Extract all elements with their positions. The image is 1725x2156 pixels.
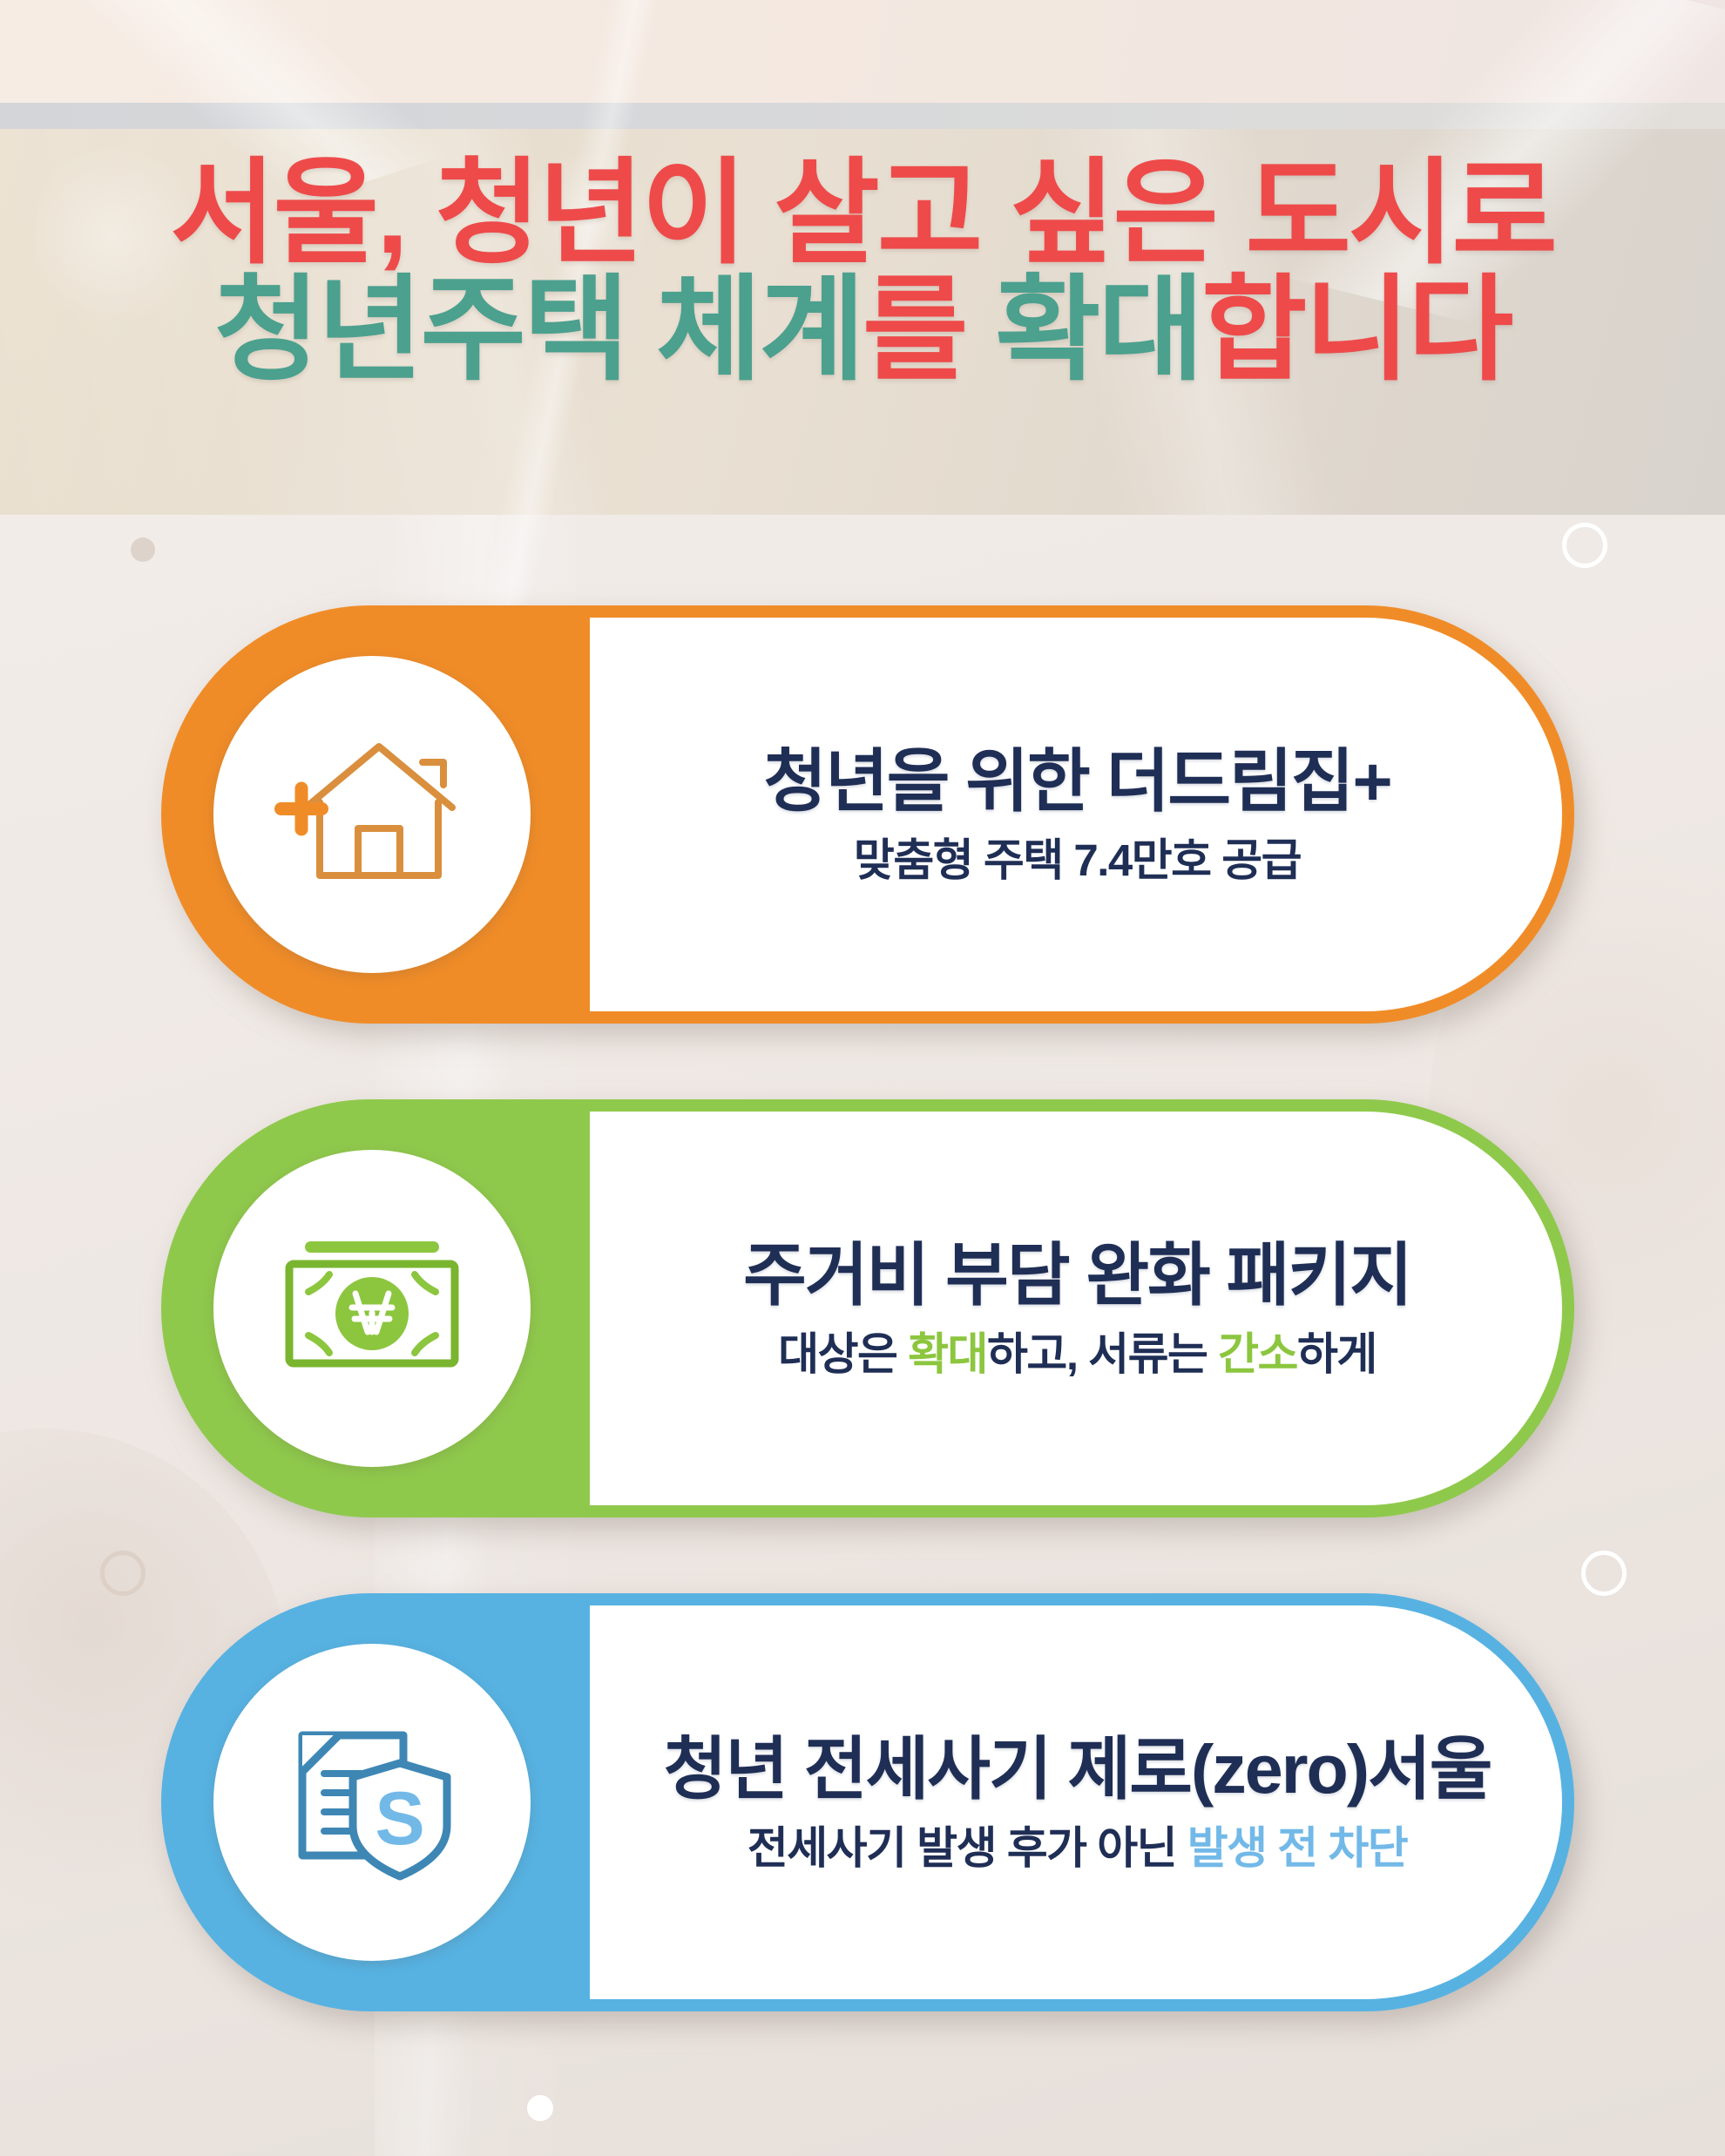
title-line-2: 청년주택 체계를 확대합니다	[0, 272, 1725, 389]
card-text-block: 주거비 부담 완화 패키지 대상은 확대하고, 서류는 간소하게	[590, 1109, 1565, 1508]
card-subtitle-segment-1: 전세사기 발생 후가 아닌	[747, 1823, 1187, 1873]
background-grey-band	[0, 103, 1725, 129]
card-text-block: 청년을 위한 더드림집+ 맞춤형 주택 7.4만호 공급	[590, 615, 1565, 1014]
deco-ring-top-right	[1562, 523, 1607, 568]
card-title: 청년을 위한 더드림집+	[763, 743, 1390, 820]
card-subtitle: 맞춤형 주택 7.4만호 공급	[854, 835, 1301, 886]
card-youth-housing[interactable]: 청년을 위한 더드림집+ 맞춤형 주택 7.4만호 공급	[161, 605, 1574, 1024]
card-title: 청년 전세사기 제로(zero)서울	[664, 1731, 1492, 1808]
card-subtitle-segment-2: 발생 전 차단	[1187, 1823, 1407, 1873]
card-icon-badge	[213, 656, 531, 973]
card-text-block: 청년 전세사기 제로(zero)서울 전세사기 발생 후가 아닌 발생 전 차단	[590, 1603, 1565, 2002]
card-icon-badge	[213, 1150, 531, 1467]
card-subtitle-segment-3: 하고, 서류는	[987, 1329, 1218, 1379]
shield-letter: S	[375, 1777, 424, 1861]
card-subtitle-segment-5: 하게	[1297, 1329, 1377, 1379]
deco-ring-lower-left	[100, 1551, 145, 1596]
card-icon-badge: S	[213, 1644, 531, 1961]
background-top-strip	[0, 0, 1725, 103]
card-subtitle-segment-1: 대상은	[778, 1329, 908, 1379]
card-housing-cost-relief[interactable]: 주거비 부담 완화 패키지 대상은 확대하고, 서류는 간소하게	[161, 1099, 1574, 1517]
title-line-2-segment-4: 합니다	[1201, 266, 1511, 394]
title-line-2-segment-3: 확대	[965, 266, 1201, 394]
title-line-1: 서울, 청년이 살고 싶은 도시로	[0, 155, 1725, 272]
deco-dot-top-left	[131, 537, 155, 562]
card-subtitle-segment-2: 확대	[908, 1329, 987, 1379]
card-subtitle: 대상은 확대하고, 서류는 간소하게	[778, 1329, 1377, 1380]
deco-dot-bottom	[527, 2095, 553, 2121]
deco-ring-lower-right	[1581, 1551, 1627, 1596]
page-title: 서울, 청년이 살고 싶은 도시로 청년주택 체계를 확대합니다	[0, 155, 1725, 389]
card-jeonse-fraud-zero[interactable]: S 청년 전세사기 제로(zero)서울 전세사기 발생 후가 아닌 발생 전 …	[161, 1593, 1574, 2011]
title-line-2-segment-2: 를	[862, 266, 965, 394]
poster-root: 서울, 청년이 살고 싶은 도시로 청년주택 체계를 확대합니다	[0, 0, 1725, 2156]
card-subtitle: 전세사기 발생 후가 아닌 발생 전 차단	[747, 1823, 1407, 1874]
card-subtitle-segment-4: 간소	[1218, 1329, 1297, 1379]
card-title: 주거비 부담 완화 패키지	[743, 1237, 1411, 1314]
house-plus-icon	[267, 727, 477, 902]
title-line-1-text: 서울, 청년이 살고 싶은 도시로	[170, 149, 1555, 277]
document-shield-icon: S	[276, 1709, 468, 1896]
title-line-2-segment-1: 청년주택 체계	[214, 266, 862, 394]
banknote-won-icon	[272, 1226, 472, 1391]
